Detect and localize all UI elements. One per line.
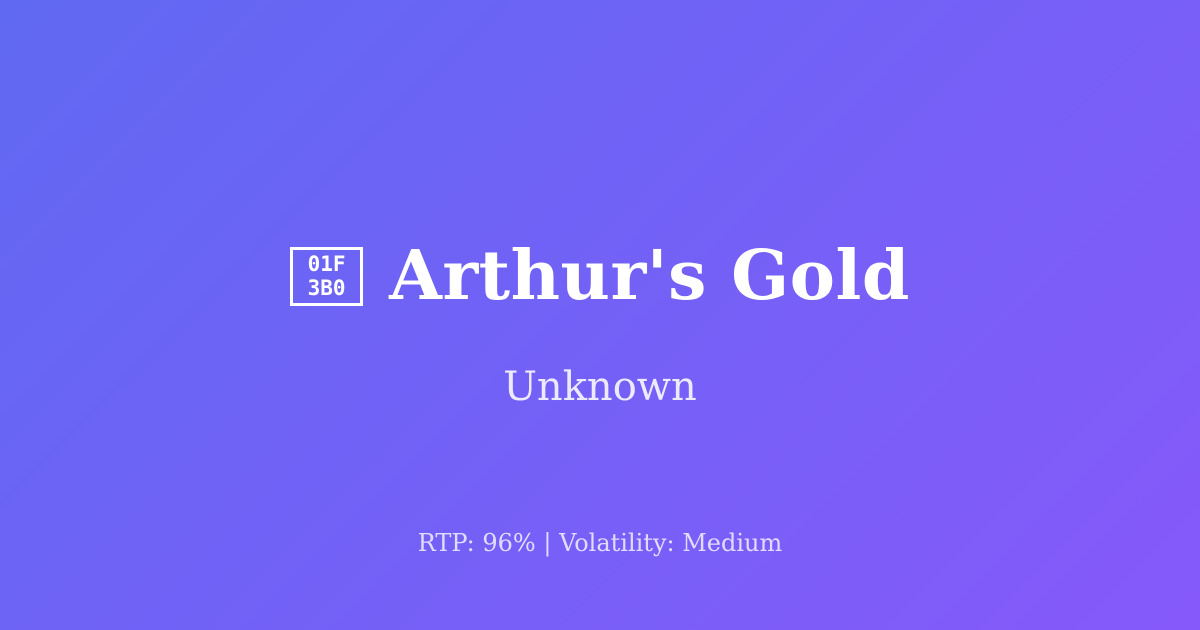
title-row: 01F 3B0 Arthur's Gold [0,228,1200,324]
slot-machine-icon: 01F 3B0 [290,247,363,306]
page-title: Arthur's Gold [389,242,910,310]
subtitle: Unknown [0,362,1200,412]
tofu-hex-bottom: 3B0 [308,276,346,300]
tofu-hex-top: 01F [308,252,346,276]
og-share-card: 01F 3B0 Arthur's Gold Unknown RTP: 96% |… [0,0,1200,630]
game-meta-line: RTP: 96% | Volatility: Medium [0,528,1200,558]
